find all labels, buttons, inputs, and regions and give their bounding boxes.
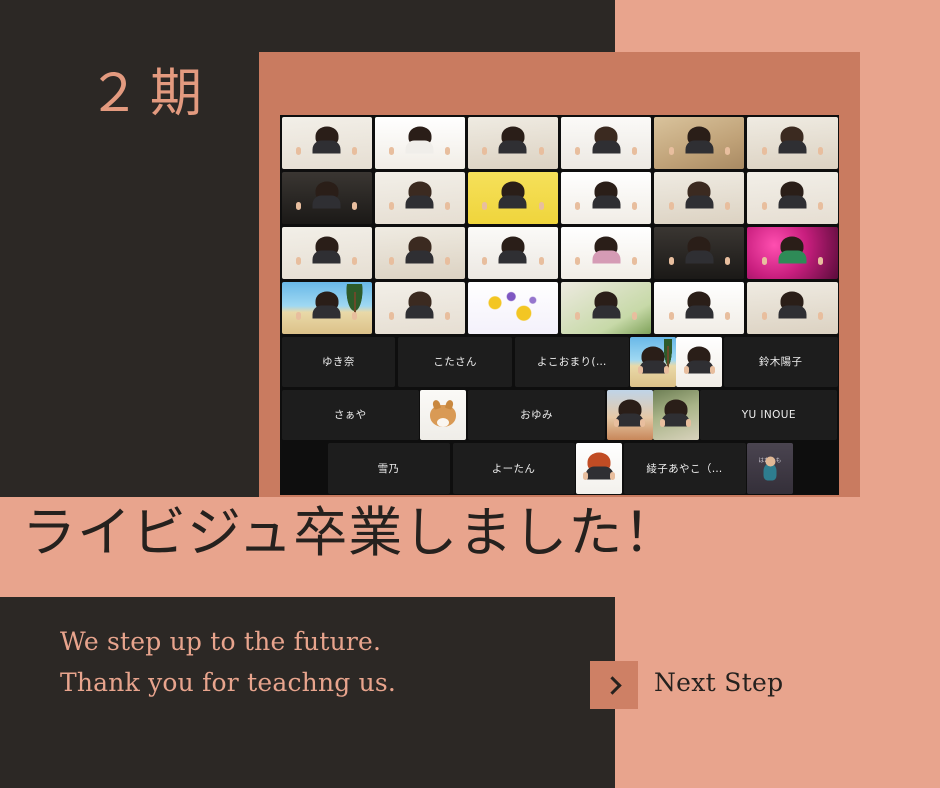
participant-video-tile[interactable] bbox=[468, 227, 558, 279]
video-feed bbox=[676, 337, 722, 387]
video-feed bbox=[282, 117, 372, 169]
tagline-line-1: We step up to the future. bbox=[60, 622, 396, 663]
participant-face bbox=[784, 241, 801, 262]
participant-video-tile[interactable] bbox=[282, 172, 372, 224]
participant-face bbox=[784, 131, 801, 152]
participant-name-tile[interactable]: よーたん bbox=[453, 443, 575, 494]
participant-name: ゆき奈 bbox=[320, 354, 357, 369]
video-feed bbox=[375, 117, 465, 169]
participant-face bbox=[504, 186, 521, 207]
participant-video-tile[interactable] bbox=[375, 172, 465, 224]
video-feed bbox=[282, 172, 372, 224]
participant-video-tile[interactable] bbox=[654, 117, 744, 169]
participant-video-tile[interactable] bbox=[468, 282, 558, 334]
participant-video-tile[interactable] bbox=[375, 282, 465, 334]
participant-video-tile[interactable] bbox=[747, 227, 837, 279]
participant-face bbox=[621, 403, 638, 424]
participant-name-tile[interactable]: YU INOUE bbox=[700, 390, 837, 440]
participant-name-tile[interactable]: おゆみ bbox=[468, 390, 605, 440]
participant-face bbox=[318, 186, 335, 207]
participant-photo-tile[interactable] bbox=[653, 390, 699, 440]
participant-video-tile[interactable] bbox=[747, 282, 837, 334]
gallery-row bbox=[280, 170, 839, 225]
avatar-figure bbox=[764, 464, 777, 481]
video-feed bbox=[375, 282, 465, 334]
term-badge: ２期 bbox=[88, 68, 212, 120]
video-feed bbox=[607, 390, 653, 440]
participant-video-tile[interactable] bbox=[747, 172, 837, 224]
participant-name: 鈴木陽子 bbox=[757, 354, 805, 369]
participant-video-tile[interactable] bbox=[747, 117, 837, 169]
participant-name-tile[interactable]: 鈴木陽子 bbox=[724, 337, 838, 387]
participant-face bbox=[591, 456, 608, 477]
gallery-row bbox=[280, 225, 839, 280]
participant-name: よこおまり(… bbox=[535, 354, 609, 369]
participant-photo-tile[interactable] bbox=[420, 390, 466, 440]
dog-photo bbox=[430, 405, 456, 427]
video-feed bbox=[468, 282, 558, 334]
participant-photo-tile[interactable] bbox=[676, 337, 722, 387]
participant-face bbox=[691, 350, 708, 371]
video-feed bbox=[654, 172, 744, 224]
gallery-row bbox=[280, 280, 839, 335]
participant-name: YU INOUE bbox=[740, 409, 798, 421]
participant-name-tile[interactable]: ゆき奈 bbox=[282, 337, 396, 387]
video-feed bbox=[468, 172, 558, 224]
video-feed bbox=[747, 282, 837, 334]
participant-face bbox=[691, 241, 708, 262]
video-meeting-gallery: ゆき奈こたさんよこおまり(…鈴木陽子さぁやおゆみYU INOUE雪乃よーたん綾子… bbox=[280, 115, 839, 495]
participant-face bbox=[784, 186, 801, 207]
participant-face bbox=[504, 131, 521, 152]
participant-face bbox=[667, 403, 684, 424]
participant-video-tile[interactable] bbox=[468, 172, 558, 224]
participant-face bbox=[318, 131, 335, 152]
next-step-label[interactable]: Next Step bbox=[654, 668, 783, 697]
participant-face bbox=[784, 296, 801, 317]
participant-face bbox=[411, 296, 428, 317]
participant-name: 雪乃 bbox=[376, 461, 402, 476]
video-feed bbox=[654, 282, 744, 334]
participant-video-tile[interactable] bbox=[468, 117, 558, 169]
dog-snout bbox=[437, 418, 449, 427]
participant-name: 綾子あやこ（… bbox=[644, 461, 724, 476]
participant-video-tile[interactable] bbox=[282, 282, 372, 334]
participant-video-tile[interactable] bbox=[282, 227, 372, 279]
participant-face bbox=[318, 296, 335, 317]
chevron-right-icon bbox=[603, 676, 621, 694]
video-feed bbox=[375, 227, 465, 279]
gallery-spacer bbox=[793, 441, 839, 495]
participant-video-tile[interactable] bbox=[561, 117, 651, 169]
video-feed bbox=[747, 117, 837, 169]
participant-video-tile[interactable] bbox=[375, 117, 465, 169]
avatar: はたもも bbox=[747, 443, 793, 494]
participant-video-tile[interactable] bbox=[561, 227, 651, 279]
participant-face bbox=[645, 350, 662, 371]
gallery-spacer bbox=[280, 441, 326, 495]
participant-face bbox=[411, 131, 428, 152]
participant-face bbox=[691, 131, 708, 152]
participant-name: おゆみ bbox=[518, 407, 555, 422]
participant-name: こたさん bbox=[431, 354, 479, 369]
participant-face bbox=[598, 131, 615, 152]
tagline-block: We step up to the future. Thank you for … bbox=[60, 622, 396, 703]
poster-canvas: ２期 ゆき奈こたさんよこおまり(…鈴木陽子さぁやおゆみYU INOUE雪乃よーた… bbox=[0, 0, 940, 788]
participant-name-tile[interactable]: こたさん bbox=[398, 337, 512, 387]
gallery-row: 雪乃よーたん綾子あやこ（…はたもも bbox=[280, 441, 839, 495]
video-feed bbox=[561, 172, 651, 224]
video-feed bbox=[654, 117, 744, 169]
participant-avatar-tile[interactable]: はたもも bbox=[747, 443, 793, 494]
participant-name: よーたん bbox=[490, 461, 538, 476]
video-feed bbox=[468, 227, 558, 279]
video-feed bbox=[747, 227, 837, 279]
participant-name: さぁや bbox=[332, 407, 369, 422]
next-step-button[interactable] bbox=[590, 661, 638, 709]
participant-name-tile[interactable]: よこおまり(… bbox=[515, 337, 629, 387]
participant-photo-tile[interactable] bbox=[607, 390, 653, 440]
participant-face bbox=[691, 296, 708, 317]
participant-name-tile[interactable]: 雪乃 bbox=[328, 443, 450, 494]
video-feed bbox=[420, 390, 466, 440]
participant-video-tile[interactable] bbox=[654, 282, 744, 334]
video-feed bbox=[630, 337, 676, 387]
gallery-row: さぁやおゆみYU INOUE bbox=[280, 388, 839, 441]
tagline-line-2: Thank you for teachng us. bbox=[60, 663, 396, 704]
participant-video-tile[interactable] bbox=[282, 117, 372, 169]
participant-name-tile[interactable]: さぁや bbox=[282, 390, 419, 440]
participant-face bbox=[691, 186, 708, 207]
video-feed bbox=[468, 117, 558, 169]
video-feed bbox=[375, 172, 465, 224]
participant-photo-tile[interactable] bbox=[630, 337, 676, 387]
participant-name-tile[interactable]: 綾子あやこ（… bbox=[624, 443, 746, 494]
video-feed bbox=[561, 227, 651, 279]
video-feed bbox=[282, 282, 372, 334]
video-feed bbox=[747, 172, 837, 224]
video-feed bbox=[653, 390, 699, 440]
gallery-row: ゆき奈こたさんよこおまり(…鈴木陽子 bbox=[280, 335, 839, 388]
participant-face bbox=[504, 241, 521, 262]
participant-face bbox=[598, 296, 615, 317]
video-feed bbox=[561, 117, 651, 169]
participant-video-tile[interactable] bbox=[654, 227, 744, 279]
participant-video-tile[interactable] bbox=[561, 282, 651, 334]
video-feed bbox=[282, 227, 372, 279]
gallery-row bbox=[280, 115, 839, 170]
video-feed bbox=[561, 282, 651, 334]
participant-face bbox=[411, 241, 428, 262]
participant-face bbox=[318, 241, 335, 262]
participant-face bbox=[598, 241, 615, 262]
page-title: ライビジュ卒業しました！ bbox=[22, 506, 678, 560]
video-feed bbox=[654, 227, 744, 279]
participant-video-tile[interactable] bbox=[375, 227, 465, 279]
participant-face bbox=[411, 186, 428, 207]
video-feed bbox=[576, 443, 622, 494]
participant-face bbox=[598, 186, 615, 207]
participant-photo-tile[interactable] bbox=[576, 443, 622, 494]
participant-video-tile[interactable] bbox=[654, 172, 744, 224]
participant-video-tile[interactable] bbox=[561, 172, 651, 224]
